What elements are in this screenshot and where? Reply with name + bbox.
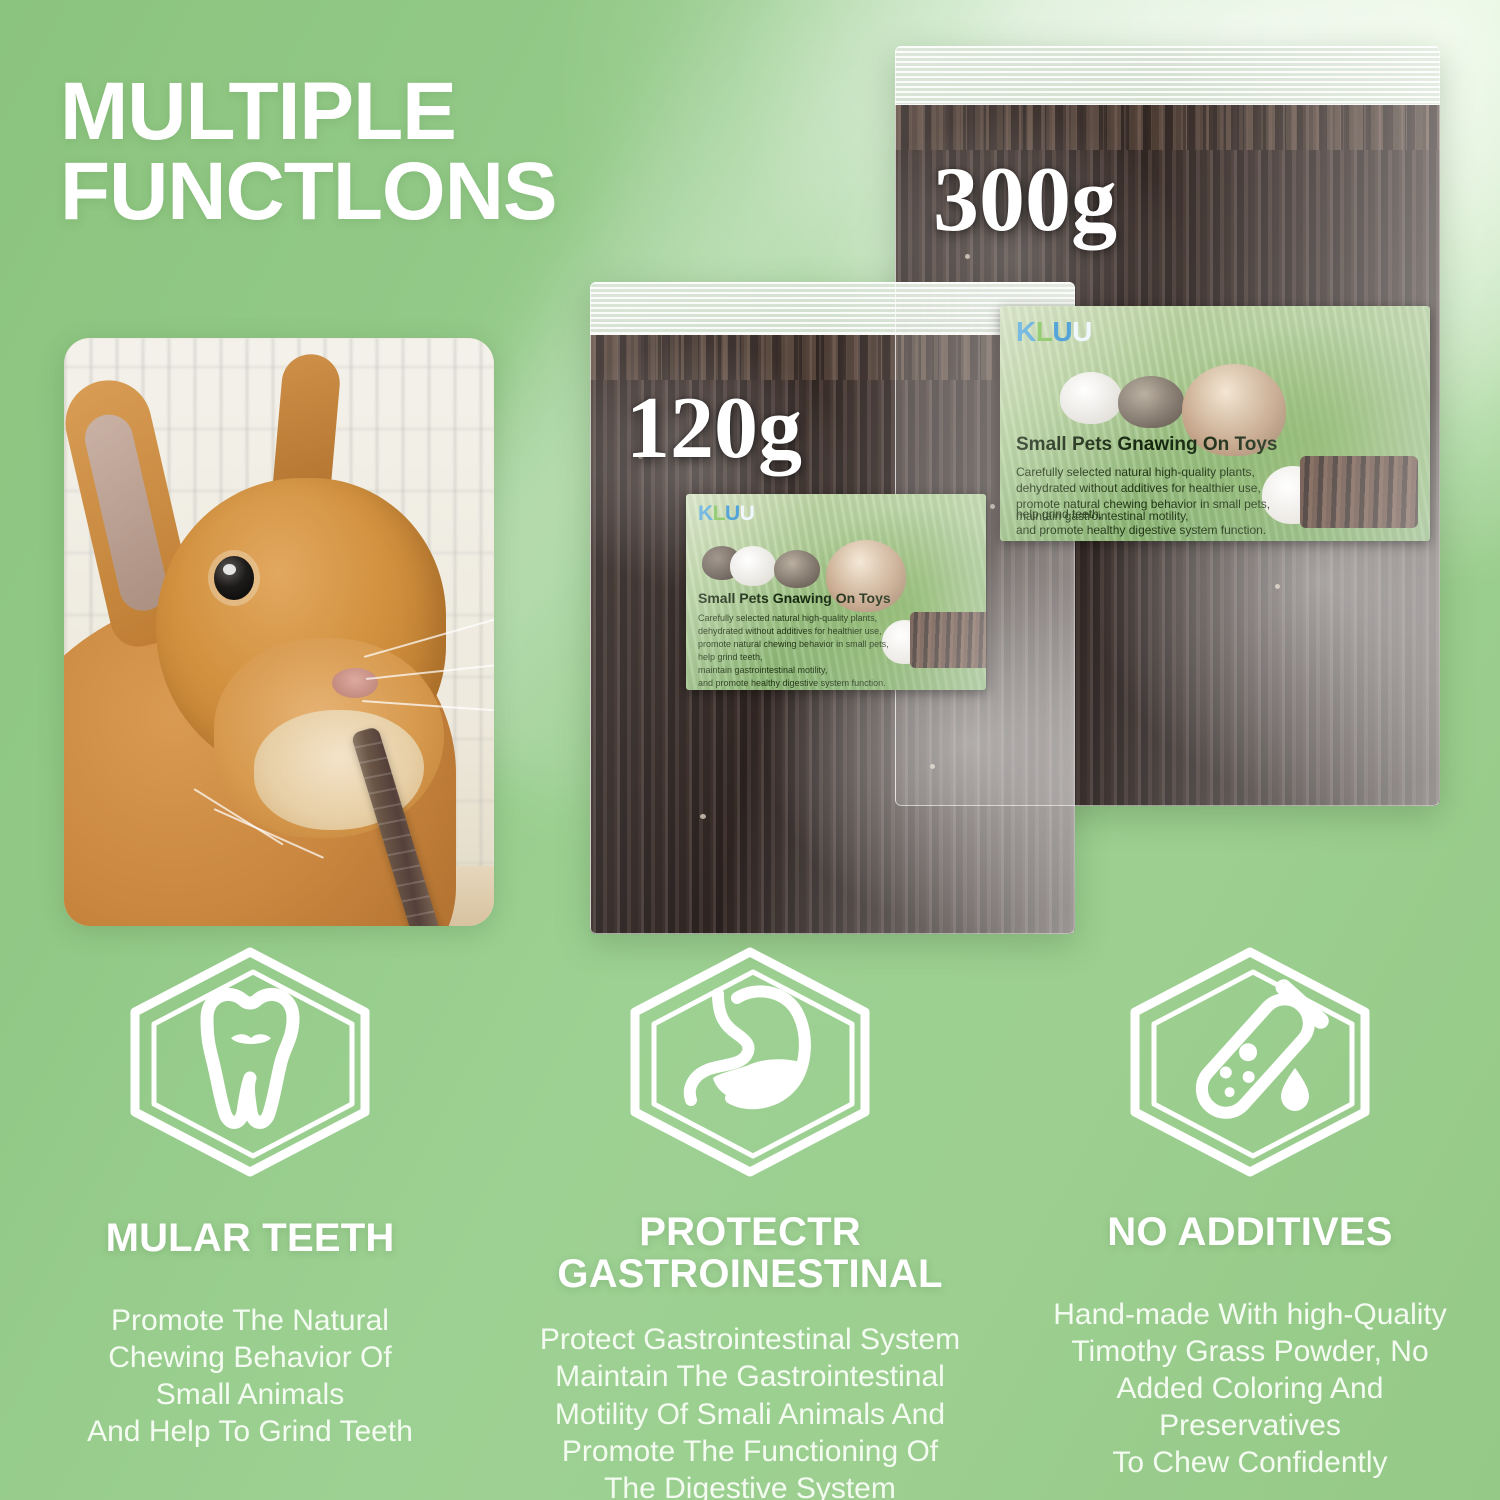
label-pet-chinchilla [1118,376,1184,428]
label-title: Small Pets Gnawing On Toys [1016,434,1277,456]
label-pet-rabbit-white [1060,372,1122,424]
package-300g-label: KLUU Small Pets Gnawing On Toys Carefull… [1000,306,1430,541]
label-body-line: maintain gastrointestinal motility, [698,664,827,677]
feature-title: MULAR TEETH [106,1218,395,1260]
feature-title: PROTECTR GASTROINESTINAL [557,1212,942,1295]
brand-letter-u1: U [725,502,740,525]
infographic-canvas: MULTIPLE FUNCTLONS [0,0,1500,1500]
label-brand-logo: KLUU [1016,318,1092,346]
package-120g-weight: 120g [626,378,802,479]
label-body-line: promote natural chewing behavior in smal… [698,638,889,651]
label-stick-bundle [1300,456,1418,528]
feature-title: NO ADDITIVES [1107,1212,1392,1254]
brand-letter-u1: U [1052,316,1072,347]
label-body-line: and promote healthy digestive system fun… [698,677,886,690]
label-stick-bundle [910,612,986,668]
label-title: Small Pets Gnawing On Toys [698,590,891,606]
label-body-line: dehydrated without additives for healthi… [1016,480,1261,497]
stomach-icon [625,946,875,1178]
stick-speck [990,504,995,509]
feature-mular-teeth: MULAR TEETH Promote The Natural Chewing … [0,946,500,1500]
stick-speck [930,764,935,769]
label-body-line: and promote healthy digestive system fun… [1016,522,1266,539]
rabbit-nose [332,668,378,698]
label-pet-rabbit-white [730,546,776,586]
feature-protect-gastrointestinal: PROTECTR GASTROINESTINAL Protect Gastroi… [500,946,1000,1500]
headline-title: MULTIPLE FUNCTLONS [60,72,557,233]
tooth-icon-hex [125,946,375,1178]
rabbit-photo [64,338,494,926]
brand-letter-k: K [1016,316,1036,347]
test-tube-icon [1125,946,1375,1178]
feature-row: MULAR TEETH Promote The Natural Chewing … [0,946,1500,1500]
feature-body: Promote The Natural Chewing Behavior Of … [87,1302,413,1451]
feature-no-additives: NO ADDITIVES Hand-made With high-Quality… [1000,946,1500,1500]
label-body-line: help grind teeth, [698,651,763,664]
package-300g-weight: 300g [933,146,1117,252]
stomach-icon-hex [625,946,875,1178]
rabbit-photo-content [64,338,494,926]
stick-speck [1275,584,1280,589]
label-body-line: Carefully selected natural high-quality … [698,612,877,625]
label-body-line: Carefully selected natural high-quality … [1016,464,1255,481]
feature-body: Protect Gastrointestinal System Maintain… [540,1321,960,1500]
label-brand-logo: KLUU [698,503,754,524]
stick-speck [965,254,970,259]
brand-letter-u2: U [740,502,755,525]
brand-letter-l: L [713,502,725,525]
label-body-line: dehydrated without additives for healthi… [698,625,882,638]
rabbit-eye [214,556,254,600]
tooth-icon [125,946,375,1178]
brand-letter-l: L [1036,316,1053,347]
brand-letter-k: K [698,502,713,525]
test-tube-icon-hex [1125,946,1375,1178]
feature-body: Hand-made With high-Quality Timothy Gras… [1053,1296,1447,1482]
brand-letter-u2: U [1072,316,1092,347]
package-120g-label: KLUU Small Pets Gnawing On Toys Carefull… [686,494,986,690]
stick-speck [700,814,706,819]
label-pet-chinchilla [774,550,820,588]
package-300g-ziplock [895,46,1440,105]
